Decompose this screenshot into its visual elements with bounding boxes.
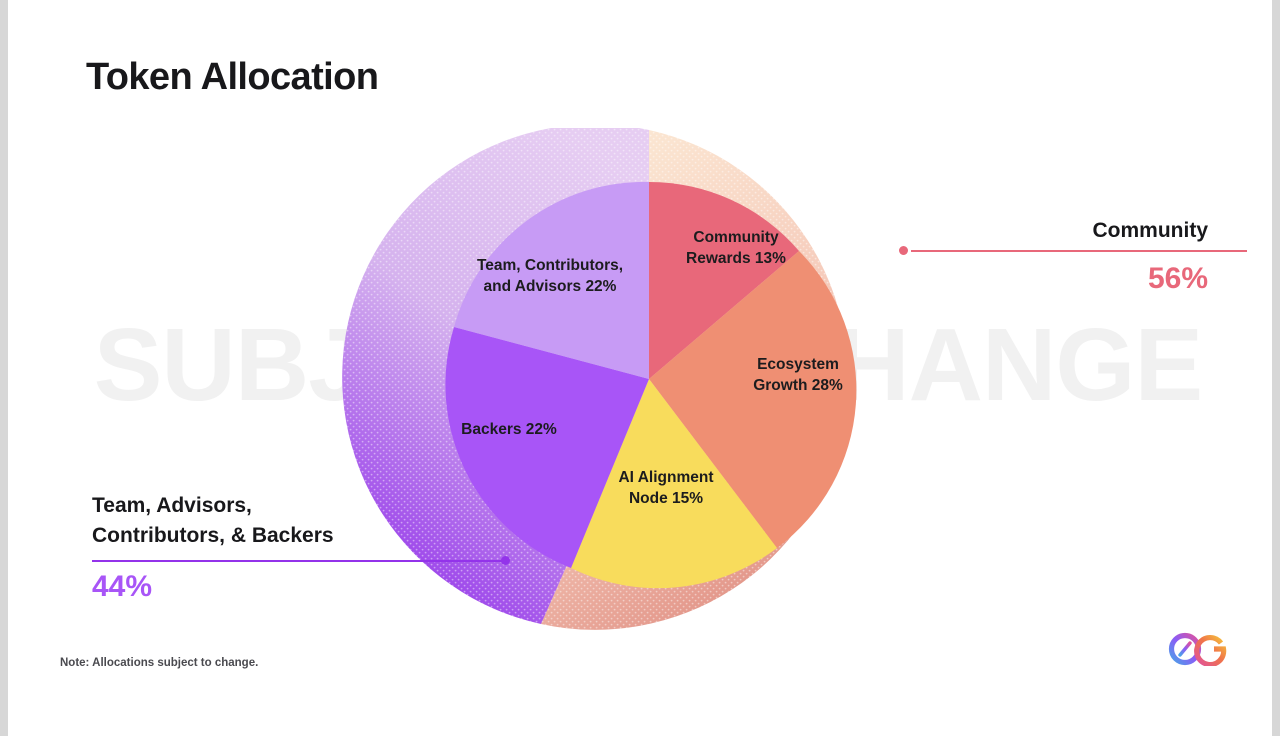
callout-team-label: Team, Advisors, Contributors, & Backers [92,491,334,552]
pie-chart-svg [313,128,985,633]
footnote: Note: Allocations subject to change. [60,657,258,669]
callout-community-label: Community [1093,216,1209,246]
page-title: Token Allocation [86,56,378,99]
callout-team-label-line2: Contributors, & Backers [92,521,334,551]
callout-team-value: 44% [92,570,152,604]
slide-canvas: SUBJECT TO CHANGE Token Allocation [0,0,1280,736]
callout-community-value: 56% [1148,262,1208,296]
leader-dot-community [899,246,908,255]
callout-team-label-line1: Team, Advisors, [92,491,334,521]
brand-logo [1168,632,1232,666]
slide-right-edge [1272,0,1280,736]
pie-chart: Community Rewards 13% Ecosystem Growth 2… [313,128,985,633]
slide-left-edge [0,0,8,736]
slide-body: SUBJECT TO CHANGE Token Allocation [8,0,1272,736]
leader-line-community [911,250,1247,252]
leader-line-team [92,560,506,562]
